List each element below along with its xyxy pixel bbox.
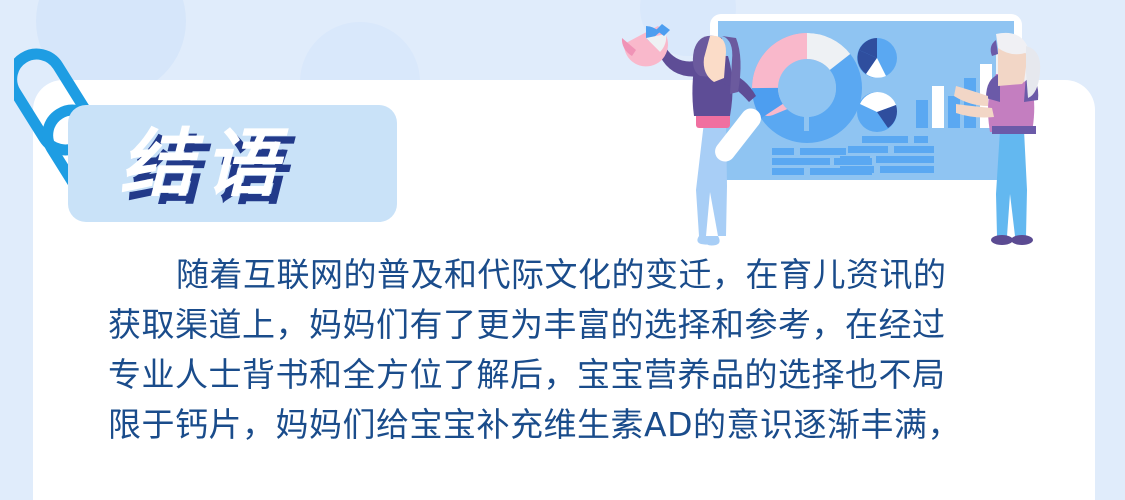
small-pie-chart-2 xyxy=(857,92,897,132)
data-analytics-illustration xyxy=(600,0,1060,258)
poster-canvas: 结语 随着互联网的普及和代际文化的变迁，在育儿资讯的 获取渠道上，妈妈们有了更为… xyxy=(0,0,1125,500)
body-paragraph: 随着互联网的普及和代际文化的变迁，在育儿资讯的 获取渠道上，妈妈们有了更为丰富的… xyxy=(108,250,1008,450)
body-line-2-text: 获取渠道上，妈妈们有了更为丰富的选择和参考，在经过 xyxy=(108,300,946,350)
donut-chart xyxy=(765,46,849,131)
body-line-2: 获取渠道上，妈妈们有了更为丰富的选择和参考，在经过 xyxy=(108,300,1008,350)
small-pie-chart-1 xyxy=(857,38,897,78)
page-title: 结语 xyxy=(120,104,420,224)
body-line-4: 限于钙片，妈妈们给宝宝补充维生素AD的意识逐渐丰满， xyxy=(108,400,1008,450)
body-line-3-text: 专业人士背书和全方位了解后，宝宝营养品的选择也不局 xyxy=(108,350,946,400)
body-line-4-text: 限于钙片，妈妈们给宝宝补充维生素AD的意识逐渐丰满， xyxy=(108,400,961,450)
body-line-1-text: 随着互联网的普及和代际文化的变迁，在育儿资讯的 xyxy=(176,250,947,300)
body-line-1: 随着互联网的普及和代际文化的变迁，在育儿资讯的 xyxy=(108,250,1008,300)
body-line-3: 专业人士背书和全方位了解后，宝宝营养品的选择也不局 xyxy=(108,350,1008,400)
